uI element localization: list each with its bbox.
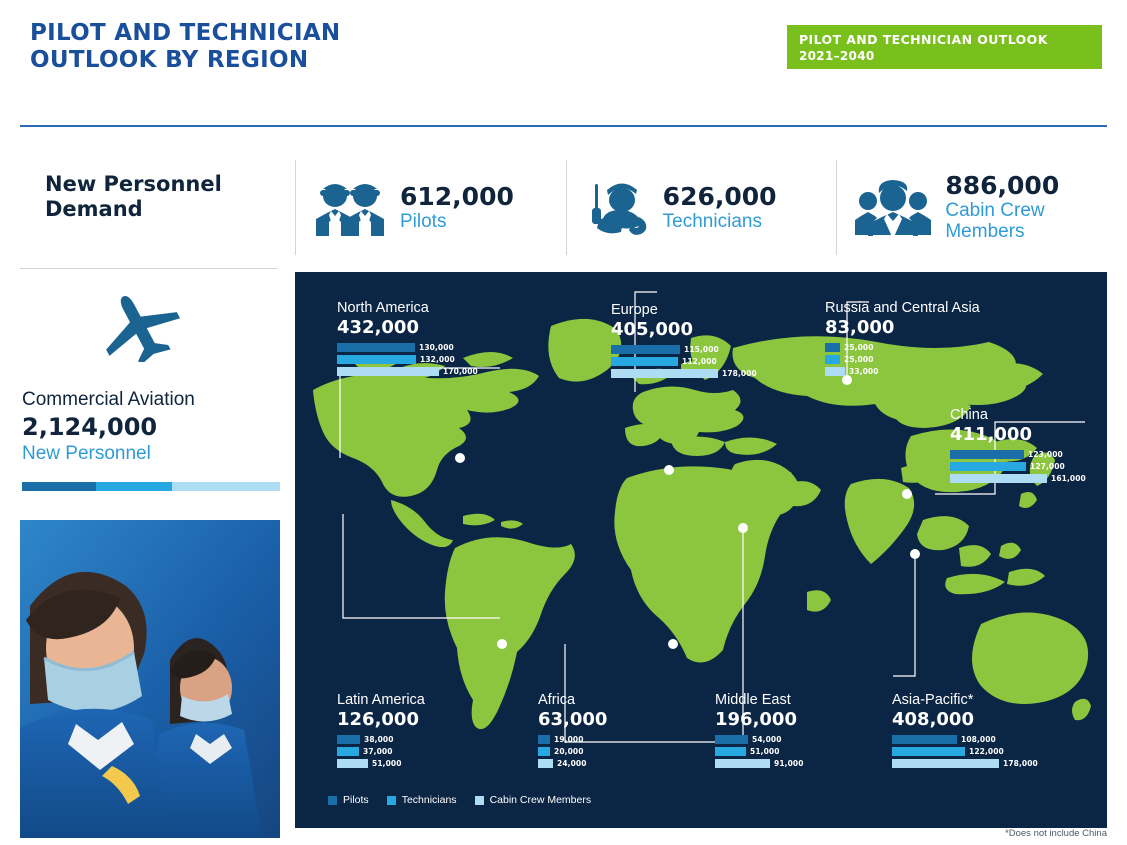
region-russia-central-asia: Russia and Central Asia 83,000 25,000 25…: [825, 300, 1045, 376]
map-landmasses: [313, 319, 1091, 729]
bar-row-cabin-crew: 33,000: [825, 367, 1045, 376]
region-bars: 19,000 20,000 24,000: [538, 735, 728, 768]
region-china: China 411,000 123,000 127,000 161,000: [950, 407, 1107, 483]
region-north-america: North America 432,000 130,000 132,000 17…: [337, 300, 537, 376]
new-personnel-demand-heading: New Personnel Demand: [45, 172, 222, 222]
bar-cabin-crew: [337, 367, 439, 376]
bar-row-pilots: 115,000: [611, 345, 811, 354]
bar-value-cabin-crew: 178,000: [722, 369, 757, 378]
summary-stats-row: 612,000 Pilots 626,000 Technicians: [295, 160, 1107, 255]
world-map-panel: North America 432,000 130,000 132,000 17…: [295, 272, 1107, 828]
legend-label-technicians: Technicians: [402, 794, 457, 806]
split-technicians: [96, 482, 172, 491]
bar-row-cabin-crew: 161,000: [950, 474, 1107, 483]
bar-value-cabin-crew: 24,000: [557, 759, 587, 768]
legend-item-technicians: Technicians: [387, 794, 457, 806]
stat-technicians: 626,000 Technicians: [566, 160, 837, 255]
split-cabin-crew: [172, 482, 280, 491]
bar-value-cabin-crew: 33,000: [849, 367, 879, 376]
bar-value-pilots: 54,000: [752, 735, 782, 744]
bar-pilots: [337, 343, 415, 352]
legend-label-pilots: Pilots: [343, 794, 369, 806]
bar-row-pilots: 25,000: [825, 343, 1045, 352]
bar-row-technicians: 122,000: [892, 747, 1092, 756]
stat-cabin-crew: 886,000 Cabin Crew Members: [836, 160, 1107, 255]
bar-cabin-crew: [825, 367, 845, 376]
bar-value-pilots: 38,000: [364, 735, 394, 744]
bar-pilots: [611, 345, 680, 354]
bar-technicians: [611, 357, 678, 366]
region-asia-pacific: Asia-Pacific* 408,000 108,000 122,000 17…: [892, 692, 1092, 768]
region-name: Middle East: [715, 692, 905, 709]
badge-title: PILOT AND TECHNICIAN OUTLOOK: [799, 32, 1090, 47]
personnel-split-bar: [22, 482, 280, 491]
region-bars: 130,000 132,000 170,000: [337, 343, 537, 376]
bar-value-pilots: 25,000: [844, 343, 874, 352]
outlook-badge: PILOT AND TECHNICIAN OUTLOOK 2021–2040: [787, 25, 1102, 69]
badge-years: 2021–2040: [799, 49, 1090, 63]
bar-value-cabin-crew: 91,000: [774, 759, 804, 768]
legend-swatch-cabin-crew: [475, 796, 484, 805]
bar-technicians: [538, 747, 550, 756]
bar-value-pilots: 108,000: [961, 735, 996, 744]
bar-technicians: [892, 747, 965, 756]
cabin-crew-photo: [20, 520, 280, 838]
bar-row-technicians: 25,000: [825, 355, 1045, 364]
region-name: North America: [337, 300, 537, 317]
bar-value-technicians: 37,000: [363, 747, 393, 756]
bar-value-technicians: 112,000: [682, 357, 717, 366]
bar-pilots: [337, 735, 360, 744]
stat-technicians-value: 626,000: [663, 183, 777, 211]
bar-row-technicians: 51,000: [715, 747, 905, 756]
region-name: China: [950, 407, 1107, 424]
region-total: 126,000: [337, 709, 537, 731]
bar-cabin-crew: [715, 759, 770, 768]
page-title: PILOT AND TECHNICIAN OUTLOOK BY REGION: [30, 20, 340, 74]
region-total: 83,000: [825, 317, 1045, 339]
region-bars: 123,000 127,000 161,000: [950, 450, 1107, 483]
bar-value-pilots: 115,000: [684, 345, 719, 354]
stat-pilots-value: 612,000: [400, 183, 514, 211]
region-total: 196,000: [715, 709, 905, 731]
bar-technicians: [825, 355, 840, 364]
region-bars: 25,000 25,000 33,000: [825, 343, 1045, 376]
region-total: 432,000: [337, 317, 537, 339]
bar-pilots: [892, 735, 957, 744]
split-pilots: [22, 482, 96, 491]
stat-pilots: 612,000 Pilots: [295, 160, 566, 255]
region-total: 63,000: [538, 709, 728, 731]
bar-value-cabin-crew: 178,000: [1003, 759, 1038, 768]
legend-swatch-pilots: [328, 796, 337, 805]
region-name: Russia and Central Asia: [825, 300, 1045, 317]
bar-row-technicians: 132,000: [337, 355, 537, 364]
stat-technicians-label: Technicians: [663, 211, 777, 232]
region-total: 405,000: [611, 319, 811, 341]
bar-row-pilots: 38,000: [337, 735, 537, 744]
technician-icon: [585, 180, 649, 236]
cabin-crew-icon: [855, 179, 931, 237]
bar-value-technicians: 20,000: [554, 747, 584, 756]
bar-row-pilots: 108,000: [892, 735, 1092, 744]
bar-value-cabin-crew: 170,000: [443, 367, 478, 376]
region-africa: Africa 63,000 19,000 20,000 24,000: [538, 692, 728, 768]
legend-label-cabin-crew: Cabin Crew Members: [490, 794, 592, 806]
region-name: Africa: [538, 692, 728, 709]
bar-value-technicians: 127,000: [1030, 462, 1065, 471]
bar-row-pilots: 19,000: [538, 735, 728, 744]
bar-technicians: [337, 355, 416, 364]
region-name: Europe: [611, 302, 811, 319]
bar-row-cabin-crew: 51,000: [337, 759, 537, 768]
stat-cabin-crew-value: 886,000: [945, 172, 1059, 200]
bar-pilots: [950, 450, 1024, 459]
bar-technicians: [950, 462, 1026, 471]
stat-pilots-label: Pilots: [400, 211, 514, 232]
region-europe: Europe 405,000 115,000 112,000 178,000: [611, 302, 811, 378]
commercial-aviation-title: Commercial Aviation: [22, 388, 282, 412]
bar-value-cabin-crew: 51,000: [372, 759, 402, 768]
legend-item-cabin-crew: Cabin Crew Members: [475, 794, 592, 806]
bar-row-cabin-crew: 24,000: [538, 759, 728, 768]
bar-value-cabin-crew: 161,000: [1051, 474, 1086, 483]
bar-value-pilots: 19,000: [554, 735, 584, 744]
bar-pilots: [715, 735, 748, 744]
bar-pilots: [538, 735, 550, 744]
region-name: Latin America: [337, 692, 537, 709]
bar-row-technicians: 112,000: [611, 357, 811, 366]
commercial-aviation-sub: New Personnel: [22, 442, 282, 466]
bar-row-technicians: 127,000: [950, 462, 1107, 471]
left-panel-divider: [20, 268, 278, 269]
bar-row-cabin-crew: 170,000: [337, 367, 537, 376]
bar-value-technicians: 25,000: [844, 355, 874, 364]
bar-value-technicians: 51,000: [750, 747, 780, 756]
region-bars: 38,000 37,000 51,000: [337, 735, 537, 768]
chart-legend: Pilots Technicians Cabin Crew Members: [328, 794, 591, 806]
bar-cabin-crew: [611, 369, 718, 378]
region-middle-east: Middle East 196,000 54,000 51,000 91,000: [715, 692, 905, 768]
bar-cabin-crew: [337, 759, 368, 768]
region-latin-america: Latin America 126,000 38,000 37,000 51,0…: [337, 692, 537, 768]
legend-item-pilots: Pilots: [328, 794, 369, 806]
bar-row-technicians: 37,000: [337, 747, 537, 756]
commercial-aviation-block: Commercial Aviation 2,124,000 New Person…: [22, 388, 282, 491]
region-total: 411,000: [950, 424, 1107, 446]
bar-value-pilots: 123,000: [1028, 450, 1063, 459]
pilots-icon: [314, 180, 386, 236]
bar-row-pilots: 54,000: [715, 735, 905, 744]
bar-row-technicians: 20,000: [538, 747, 728, 756]
bar-row-cabin-crew: 178,000: [892, 759, 1092, 768]
region-bars: 115,000 112,000 178,000: [611, 345, 811, 378]
bar-value-technicians: 122,000: [969, 747, 1004, 756]
header-divider: [20, 125, 1107, 127]
bar-row-cabin-crew: 178,000: [611, 369, 811, 378]
airplane-icon: [95, 290, 185, 367]
bar-cabin-crew: [950, 474, 1047, 483]
region-bars: 108,000 122,000 178,000: [892, 735, 1092, 768]
footnote: *Does not include China: [1005, 828, 1107, 839]
region-name: Asia-Pacific*: [892, 692, 1092, 709]
bar-value-technicians: 132,000: [420, 355, 455, 364]
bar-row-cabin-crew: 91,000: [715, 759, 905, 768]
bar-value-pilots: 130,000: [419, 343, 454, 352]
region-bars: 54,000 51,000 91,000: [715, 735, 905, 768]
legend-swatch-technicians: [387, 796, 396, 805]
bar-pilots: [825, 343, 840, 352]
bar-cabin-crew: [538, 759, 553, 768]
bar-row-pilots: 130,000: [337, 343, 537, 352]
bar-row-pilots: 123,000: [950, 450, 1107, 459]
bar-technicians: [715, 747, 746, 756]
stat-cabin-crew-label: Cabin Crew Members: [945, 200, 1059, 243]
region-total: 408,000: [892, 709, 1092, 731]
bar-cabin-crew: [892, 759, 999, 768]
bar-technicians: [337, 747, 359, 756]
commercial-aviation-value: 2,124,000: [22, 412, 282, 442]
